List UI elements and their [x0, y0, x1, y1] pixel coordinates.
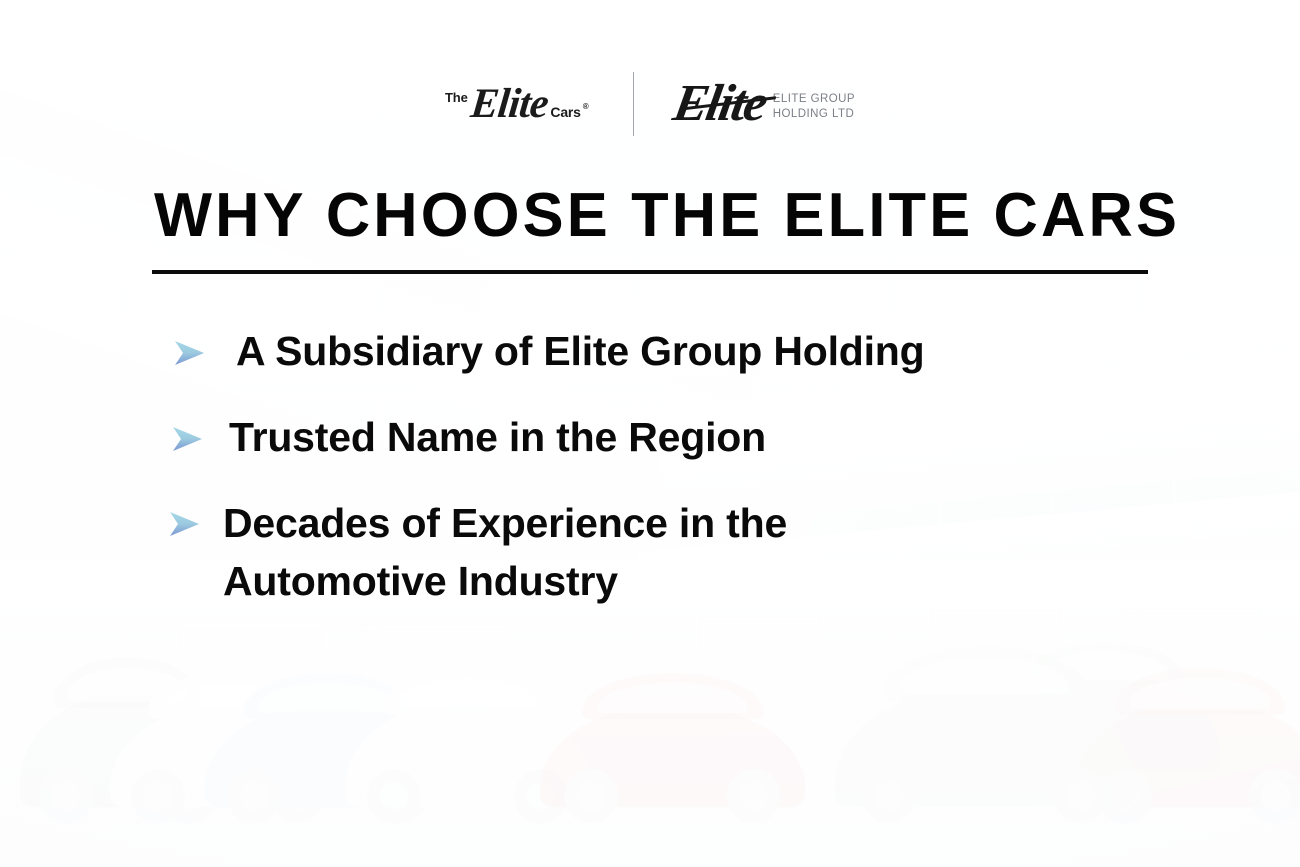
logo-row: The Elite Cars ® Elite ELITE GROUP HOLDI… — [0, 72, 1300, 136]
logo-elite-group-name-line1: ELITE GROUP — [773, 93, 855, 105]
logo-elite-group-name: ELITE GROUP HOLDING LTD — [773, 92, 855, 122]
bullet-list: A Subsidiary of Elite Group Holding — [0, 322, 1300, 634]
title-underline-rule — [152, 270, 1148, 274]
list-item: Decades of Experience in the Automotive … — [0, 494, 1300, 610]
list-item: A Subsidiary of Elite Group Holding — [0, 322, 1300, 384]
arrow-right-triangle-icon — [172, 322, 206, 384]
list-item-label: Decades of Experience in the Automotive … — [223, 494, 983, 610]
logo-divider — [633, 72, 634, 136]
registered-mark-icon: ® — [583, 102, 589, 111]
logo-elite-group-script: Elite — [670, 81, 769, 128]
logo-the-word: The — [445, 90, 468, 105]
slide-why-choose-the-elite-cars: The Elite Cars ® Elite ELITE GROUP HOLDI… — [0, 0, 1300, 867]
list-item: Trusted Name in the Region — [0, 408, 1300, 470]
arrow-right-triangle-icon — [167, 494, 201, 540]
list-item-label: Trusted Name in the Region — [229, 408, 766, 466]
logo-elite-group-holding: Elite ELITE GROUP HOLDING LTD — [634, 81, 855, 128]
arrow-right-triangle-icon — [170, 408, 204, 470]
slide-content: The Elite Cars ® Elite ELITE GROUP HOLDI… — [0, 0, 1300, 867]
logo-elite-group-name-line2: HOLDING LTD — [773, 108, 854, 120]
logo-the-elite-cars: The Elite Cars ® — [445, 83, 633, 125]
page-title: WHY CHOOSE THE ELITE CARS — [154, 183, 1180, 248]
list-item-label: A Subsidiary of Elite Group Holding — [236, 322, 925, 380]
logo-cars-word: Cars — [550, 104, 580, 120]
logo-elite-script: Elite — [469, 83, 550, 125]
